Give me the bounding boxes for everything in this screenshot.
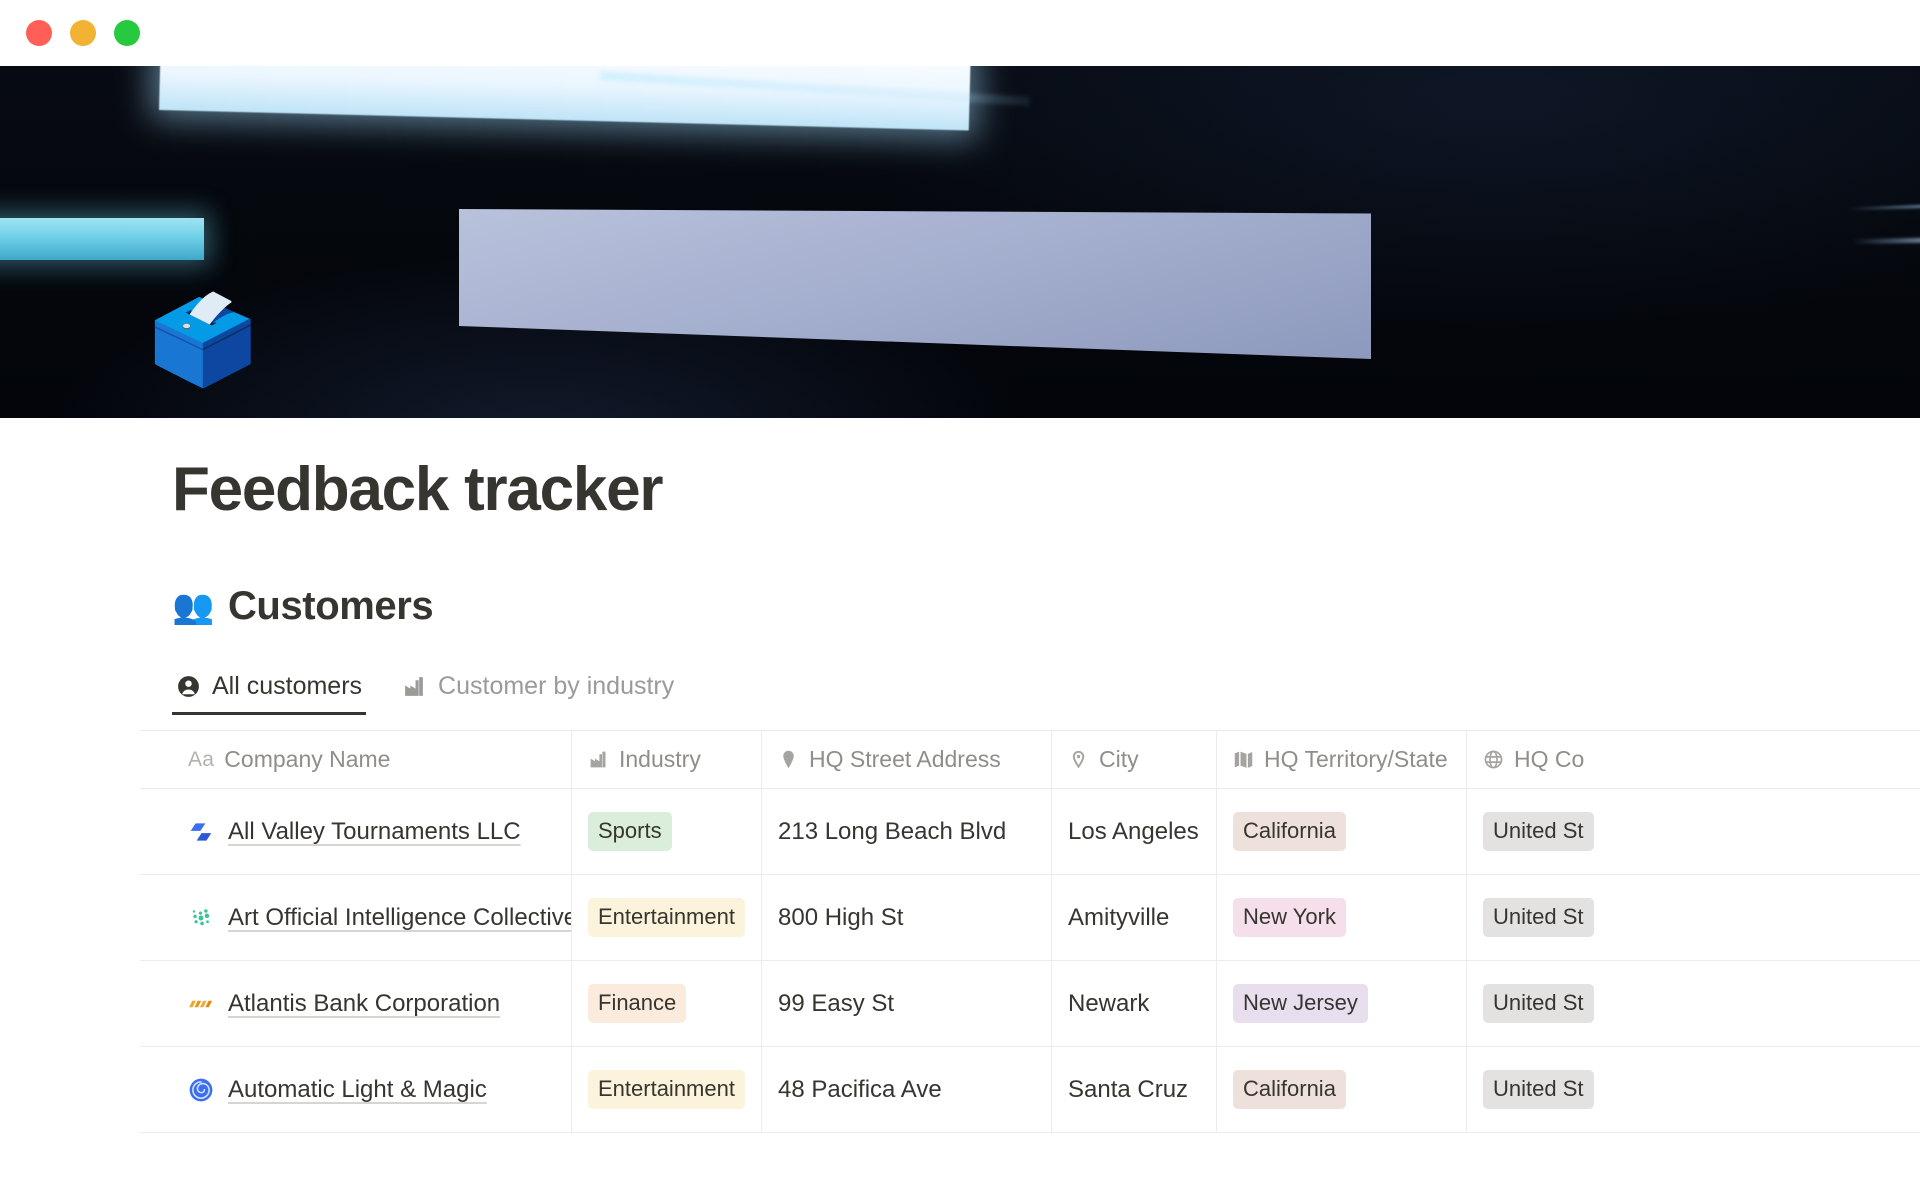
- table-row[interactable]: Art Official Intelligence Collective Ent…: [140, 875, 1920, 961]
- page-icon[interactable]: 🗳️: [148, 288, 252, 392]
- hq-street-address-value: 213 Long Beach Blvd: [778, 818, 1006, 846]
- country-tag: United St: [1483, 984, 1594, 1023]
- window-titlebar: [0, 0, 1920, 66]
- cell-industry[interactable]: Sports: [572, 789, 762, 874]
- column-header-hq-street-address-label: HQ Street Address: [809, 746, 1001, 773]
- person-circle-icon: [176, 674, 201, 699]
- cell-company-name[interactable]: All Valley Tournaments LLC: [140, 789, 572, 874]
- tab-all-customers-label: All customers: [212, 672, 362, 701]
- page-body: Feedback tracker 👥 Customers All custome…: [0, 418, 1920, 1200]
- factory-icon: [588, 749, 609, 770]
- column-header-industry[interactable]: Industry: [572, 731, 762, 788]
- cell-hq-street-address[interactable]: 99 Easy St: [762, 961, 1052, 1046]
- page-title[interactable]: Feedback tracker: [172, 454, 662, 525]
- cell-industry[interactable]: Entertainment: [572, 875, 762, 960]
- cell-hq-street-address[interactable]: 48 Pacifica Ave: [762, 1047, 1052, 1132]
- busts-in-silhouette-icon: 👥: [172, 590, 214, 624]
- page-cover-image[interactable]: [0, 66, 1920, 418]
- tab-all-customers[interactable]: All customers: [172, 672, 366, 715]
- cell-hq-country[interactable]: United St: [1467, 875, 1920, 960]
- city-value: Los Angeles: [1068, 818, 1199, 846]
- cell-industry[interactable]: Entertainment: [572, 1047, 762, 1132]
- green-dots-icon: [188, 905, 214, 931]
- column-header-city[interactable]: City: [1052, 731, 1217, 788]
- column-header-hq-country[interactable]: HQ Co: [1467, 731, 1920, 788]
- country-tag: United St: [1483, 1070, 1594, 1109]
- orange-stripes-icon: [188, 991, 214, 1017]
- cell-hq-territory-state[interactable]: California: [1217, 1047, 1467, 1132]
- maximize-window-icon[interactable]: [114, 20, 140, 46]
- aa-title-icon: Aa: [188, 748, 214, 772]
- table-header-row: Aa Company Name Industry: [140, 731, 1920, 789]
- database-view-tabs: All customers Customer by industry: [172, 672, 678, 715]
- hq-street-address-value: 800 High St: [778, 904, 903, 932]
- map-pin-filled-icon: [778, 749, 799, 770]
- section-heading-label: Customers: [228, 584, 433, 629]
- column-header-hq-street-address[interactable]: HQ Street Address: [762, 731, 1052, 788]
- industry-tag: Entertainment: [588, 898, 745, 937]
- column-header-company-name[interactable]: Aa Company Name: [140, 731, 572, 788]
- table-row[interactable]: All Valley Tournaments LLC Sports 213 Lo…: [140, 789, 1920, 875]
- traffic-light-controls: [26, 20, 140, 46]
- cell-city[interactable]: Los Angeles: [1052, 789, 1217, 874]
- cell-hq-country[interactable]: United St: [1467, 1047, 1920, 1132]
- cell-city[interactable]: Santa Cruz: [1052, 1047, 1217, 1132]
- cell-company-name[interactable]: Art Official Intelligence Collective: [140, 875, 572, 960]
- state-tag: California: [1233, 1070, 1346, 1109]
- cell-city[interactable]: Newark: [1052, 961, 1217, 1046]
- cell-hq-territory-state[interactable]: New York: [1217, 875, 1467, 960]
- hq-street-address-value: 99 Easy St: [778, 990, 894, 1018]
- city-value: Santa Cruz: [1068, 1076, 1188, 1104]
- city-value: Amityville: [1068, 904, 1169, 932]
- blue-spiral-icon: [188, 1077, 214, 1103]
- company-name-link[interactable]: Automatic Light & Magic: [228, 1076, 487, 1104]
- column-header-hq-territory-state-label: HQ Territory/State: [1264, 746, 1448, 773]
- section-heading-customers: 👥 Customers: [172, 584, 433, 629]
- cell-hq-street-address[interactable]: 213 Long Beach Blvd: [762, 789, 1052, 874]
- table-row[interactable]: Automatic Light & Magic Entertainment 48…: [140, 1047, 1920, 1133]
- state-tag: California: [1233, 812, 1346, 851]
- blue-parallelogram-icon: [188, 819, 214, 845]
- cell-hq-country[interactable]: United St: [1467, 789, 1920, 874]
- column-header-city-label: City: [1099, 746, 1139, 773]
- state-tag: New Jersey: [1233, 984, 1368, 1023]
- industry-tag: Entertainment: [588, 1070, 745, 1109]
- industry-tag: Finance: [588, 984, 686, 1023]
- company-name-link[interactable]: Art Official Intelligence Collective: [228, 904, 572, 932]
- cell-company-name[interactable]: Automatic Light & Magic: [140, 1047, 572, 1132]
- map-pin-outline-icon: [1068, 749, 1089, 770]
- factory-icon: [402, 674, 427, 699]
- tab-customer-by-industry[interactable]: Customer by industry: [398, 672, 678, 715]
- cell-industry[interactable]: Finance: [572, 961, 762, 1046]
- hq-street-address-value: 48 Pacifica Ave: [778, 1076, 942, 1104]
- country-tag: United St: [1483, 898, 1594, 937]
- cell-hq-street-address[interactable]: 800 High St: [762, 875, 1052, 960]
- state-tag: New York: [1233, 898, 1346, 937]
- tab-customer-by-industry-label: Customer by industry: [438, 672, 674, 701]
- close-window-icon[interactable]: [26, 20, 52, 46]
- minimize-window-icon[interactable]: [70, 20, 96, 46]
- map-folded-icon: [1233, 749, 1254, 770]
- customers-table: Aa Company Name Industry: [140, 730, 1920, 1133]
- cell-hq-country[interactable]: United St: [1467, 961, 1920, 1046]
- country-tag: United St: [1483, 812, 1594, 851]
- cell-hq-territory-state[interactable]: California: [1217, 789, 1467, 874]
- cell-hq-territory-state[interactable]: New Jersey: [1217, 961, 1467, 1046]
- column-header-company-name-label: Company Name: [224, 746, 390, 773]
- city-value: Newark: [1068, 990, 1149, 1018]
- column-header-industry-label: Industry: [619, 746, 701, 773]
- industry-tag: Sports: [588, 812, 672, 851]
- table-row[interactable]: Atlantis Bank Corporation Finance 99 Eas…: [140, 961, 1920, 1047]
- company-name-link[interactable]: Atlantis Bank Corporation: [228, 990, 500, 1018]
- cell-company-name[interactable]: Atlantis Bank Corporation: [140, 961, 572, 1046]
- column-header-hq-country-label: HQ Co: [1514, 746, 1584, 773]
- column-header-hq-territory-state[interactable]: HQ Territory/State: [1217, 731, 1467, 788]
- app-window: 🗳️ Feedback tracker 👥 Customers All cust…: [0, 0, 1920, 1200]
- company-name-link[interactable]: All Valley Tournaments LLC: [228, 818, 521, 846]
- globe-icon: [1483, 749, 1504, 770]
- cover-light-band-left: [0, 218, 204, 260]
- cell-city[interactable]: Amityville: [1052, 875, 1217, 960]
